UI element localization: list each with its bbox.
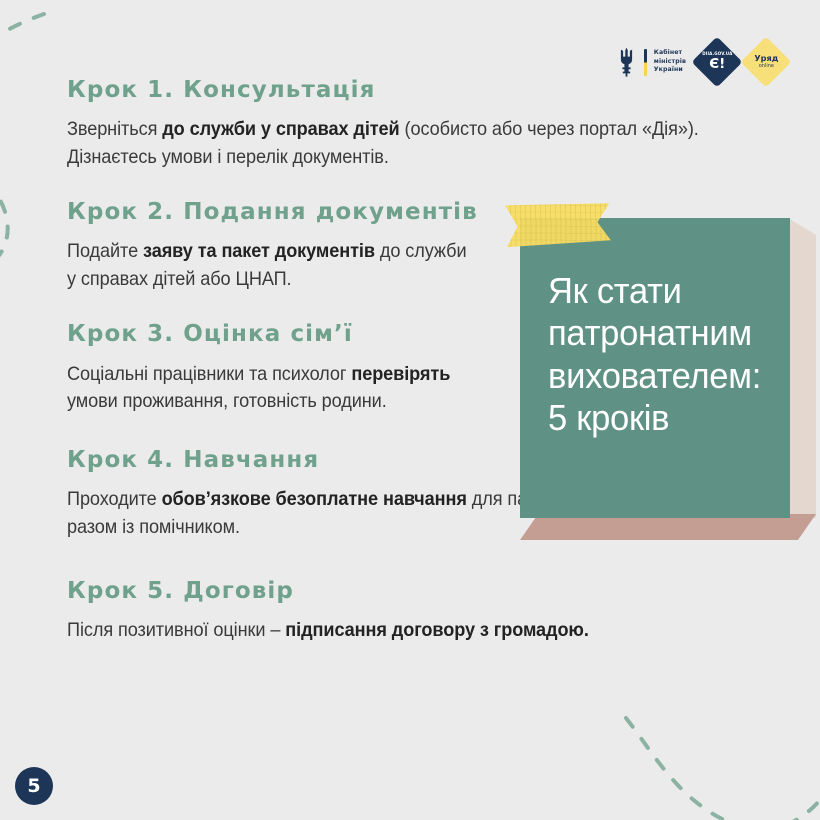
step-5-body: Після позитивної оцінки – підписання дог…: [67, 617, 718, 645]
step-2-body: Подайте заяву та пакет документів до слу…: [67, 238, 467, 293]
diia-label: Є!: [702, 57, 732, 71]
step-3-body: Соціальні працівники та психолог перевір…: [67, 361, 467, 416]
gov-online-title: Уряд: [754, 54, 778, 63]
flag-divider: [644, 49, 647, 76]
tape-texture: [505, 201, 611, 247]
step-1-body: Зверніться до служби у справах дітей (ос…: [67, 116, 718, 171]
step-item-1: Крок 1. Консультація Зверніться до служб…: [67, 78, 767, 172]
page-number-badge: 5: [15, 767, 53, 805]
card-face: Як стати патронатним вихователем: 5 крок…: [520, 218, 790, 518]
card-shadow-right: [788, 218, 816, 518]
step-5-title: Крок 5. Договір: [67, 579, 767, 604]
infographic-page: Кабінет міністрів України DIIA.GOV.UA Є!…: [0, 0, 820, 820]
yellow-tape-icon: [505, 201, 611, 247]
gov-online-subtitle: online: [754, 63, 778, 69]
step-1-title: Крок 1. Консультація: [67, 78, 767, 103]
logo-strip: Кабінет міністрів України DIIA.GOV.UA Є!…: [616, 44, 784, 80]
dashed-curve-right-decoration: [620, 710, 820, 820]
ukraine-trident-icon: [616, 47, 637, 77]
cabinet-logo-text: Кабінет міністрів України: [654, 49, 686, 75]
card-title-text: Як стати патронатним вихователем: 5 крок…: [548, 270, 767, 440]
title-card: Як стати патронатним вихователем: 5 крок…: [520, 218, 816, 540]
step-item-5: Крок 5. Договір Після позитивної оцінки …: [67, 579, 767, 645]
cabinet-of-ministers-logo: Кабінет міністрів України: [616, 47, 686, 77]
